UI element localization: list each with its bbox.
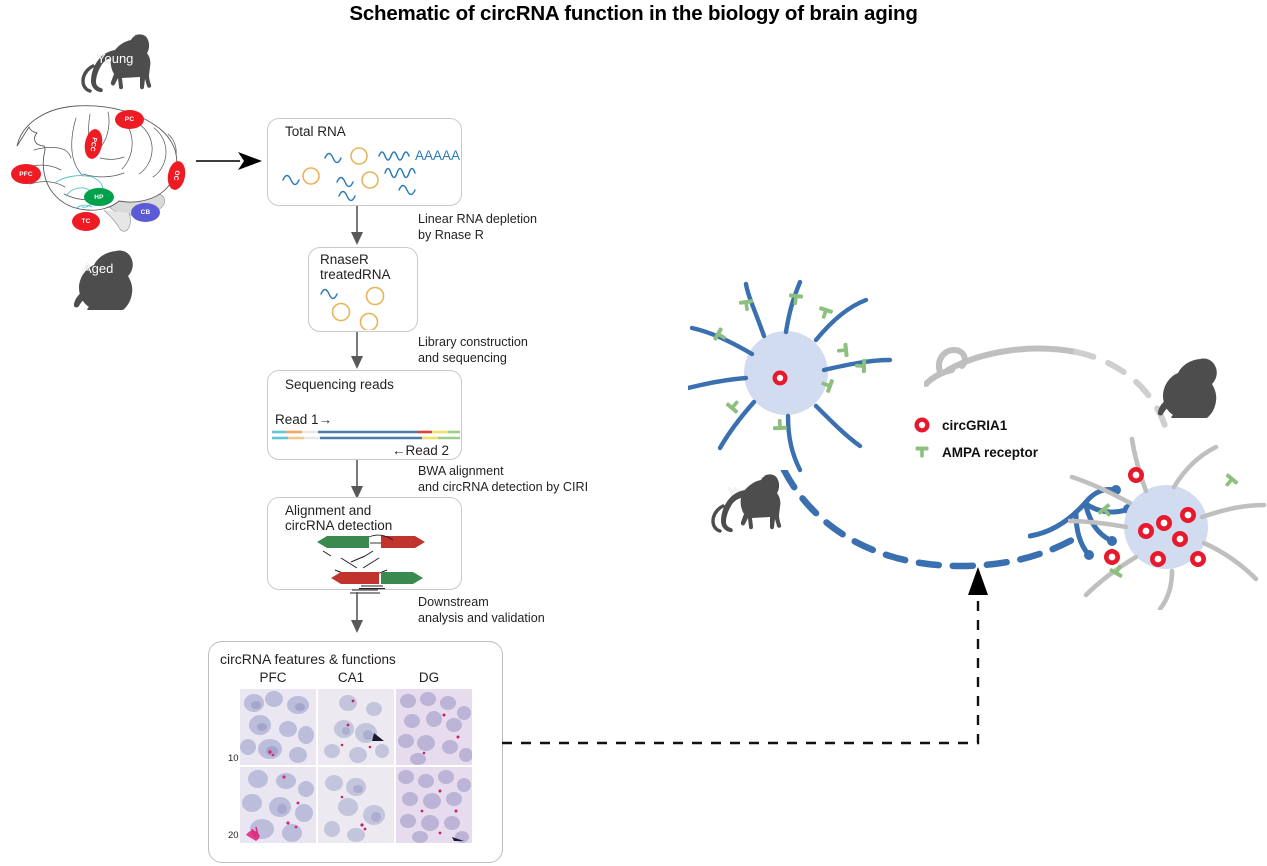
- brain-region-cb: CB: [131, 203, 160, 222]
- micrograph-pfc-10yrs: [240, 689, 316, 765]
- total-rna-box-title: Total RNA: [285, 124, 346, 139]
- brain-region-pc: PC: [115, 110, 144, 129]
- flow-arrow-2: [349, 332, 365, 370]
- sequencing-reads-box-title: Sequencing reads: [285, 377, 394, 392]
- brain-region-hp: HP: [84, 188, 114, 206]
- brain-region-label: PCC: [89, 136, 98, 151]
- aged-monkey-silhouette: [72, 248, 144, 310]
- flow-arrow-1: [349, 206, 365, 246]
- legend-label-circgria1: circGRIA1: [942, 418, 1007, 433]
- annotation-library-construction: Library construction and sequencing: [418, 335, 528, 366]
- brain-region-tc: TC: [72, 212, 100, 231]
- aged-monkey-label: Aged: [83, 261, 113, 276]
- micrograph-panel-title: circRNA features & functions: [220, 651, 396, 667]
- aged-monkey-silhouette-neuron: [1156, 356, 1228, 418]
- micrograph-dg-20yrs: [396, 767, 472, 843]
- annotation-linear-rna-depletion: Linear RNA depletion by Rnase R: [418, 212, 537, 243]
- annotation-bwa-alignment: BWA alignment and circRNA detection by C…: [418, 464, 588, 495]
- micrograph-pfc-20yrs: [240, 767, 316, 843]
- back-splice-junction-diagram: [295, 532, 435, 590]
- micrograph-title-part2: & functions: [329, 652, 396, 667]
- legend-label-ampa-receptor: AMPA receptor: [942, 445, 1038, 460]
- brain-region-label: HP: [94, 194, 103, 201]
- micrograph-column-header-dg: DG: [398, 670, 460, 685]
- micrograph-ca1-10yrs: [318, 689, 394, 765]
- rnaser-treated-molecules: [313, 284, 413, 330]
- micrograph-title-part1: circRNA features: [220, 651, 325, 667]
- poly-a-tail-label: AAAAA: [415, 148, 460, 163]
- paired-read-tracks: [272, 430, 460, 442]
- aged-neuron: [1068, 435, 1267, 610]
- brain-to-rna-arrow: [196, 148, 266, 174]
- micrograph-dg-10yrs: [396, 689, 472, 765]
- circgria1-icon: [913, 416, 931, 434]
- brain-region-label: PFC: [19, 171, 33, 178]
- young-monkey-silhouette-neuron: [708, 472, 788, 534]
- young-monkey-label: Young: [97, 51, 133, 66]
- circgria1-marker: [773, 371, 788, 386]
- brain-region-pfc: PFC: [11, 164, 41, 184]
- brain-region-label: PC: [125, 116, 134, 123]
- read-2-label: ←Read 2: [392, 443, 449, 458]
- neuron-legend: circGRIA1 AMPA receptor: [913, 416, 1038, 461]
- total-rna-molecules: AAAAA: [269, 140, 461, 204]
- young-neuron: [688, 278, 898, 493]
- rnaser-treated-rna-box-title: RnaseR treatedRNA: [320, 252, 391, 282]
- ampa-receptor-icon: [913, 443, 931, 461]
- neuron-panel: Young: [660, 270, 1267, 610]
- micrograph-column-header-ca1: CA1: [320, 670, 382, 685]
- micrograph-ca1-20yrs: [318, 767, 394, 843]
- flow-arrow-3: [349, 460, 365, 500]
- brain-region-label: OC: [172, 170, 181, 181]
- micrograph-column-header-pfc: PFC: [242, 670, 304, 685]
- flow-arrow-4: [349, 592, 365, 634]
- alignment-detection-box-title: Alignment and circRNA detection: [285, 503, 392, 533]
- read-1-label: Read 1→: [275, 412, 332, 427]
- brain-region-label: CB: [141, 209, 151, 216]
- brain-region-label: TC: [81, 218, 90, 225]
